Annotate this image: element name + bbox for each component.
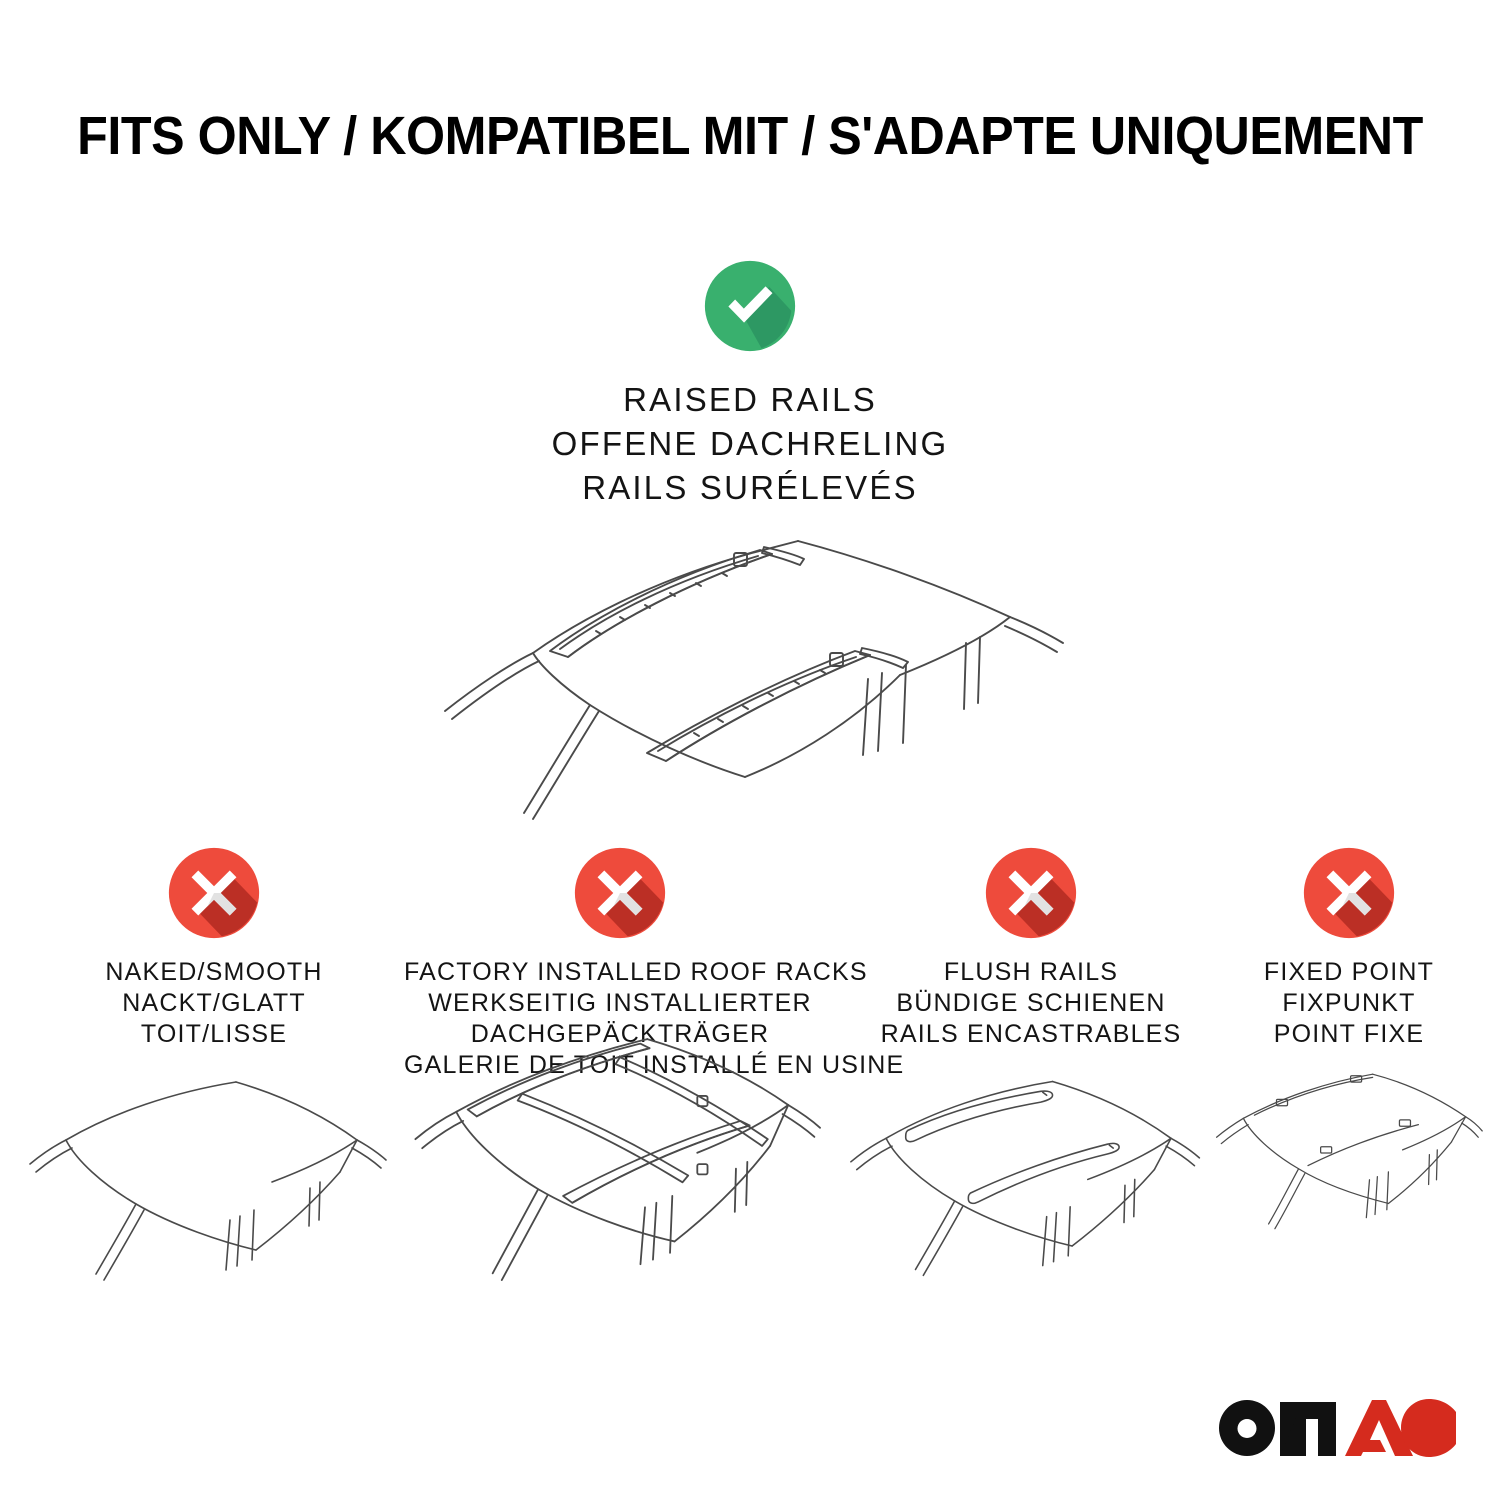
label-line-2: WERKSEITIG INSTALLIERTER <box>404 988 836 1019</box>
compatible-label-line-2: OFFENE DACHRELING <box>0 422 1500 466</box>
compatible-section: RAISED RAILS OFFENE DACHRELING RAILS SUR… <box>0 258 1500 510</box>
label-line-1: FLUSH RAILS <box>845 957 1217 988</box>
cross-circle-icon <box>572 845 668 941</box>
factory-roof-rack-illustration <box>404 1030 836 1303</box>
fixed-point-roof-illustration <box>1215 1060 1483 1241</box>
incompatible-section: NAKED/SMOOTH NACKT/GLATT TOIT/LISSE <box>0 845 1500 1315</box>
incompatible-column-naked-smooth: NAKED/SMOOTH NACKT/GLATT TOIT/LISSE <box>24 845 404 1050</box>
incompatible-column-fixed-point: FIXED POINT FIXPUNKT POINT FIXE <box>1215 845 1483 1050</box>
raised-rails-roof-illustration <box>400 505 1100 835</box>
compatible-label-line-1: RAISED RAILS <box>0 378 1500 422</box>
cross-circle-icon <box>983 845 1079 941</box>
label-line-1: FIXED POINT <box>1215 957 1483 988</box>
label-line-2: BÜNDIGE SCHIENEN <box>845 988 1217 1019</box>
incompatible-column-flush-rails: FLUSH RAILS BÜNDIGE SCHIENEN RAILS ENCAS… <box>845 845 1217 1050</box>
incompatible-label-naked-smooth: NAKED/SMOOTH NACKT/GLATT TOIT/LISSE <box>24 957 404 1050</box>
compatible-label: RAISED RAILS OFFENE DACHRELING RAILS SUR… <box>0 378 1500 510</box>
label-line-3: RAILS ENCASTRABLES <box>845 1019 1217 1050</box>
omac-logo <box>1214 1392 1458 1464</box>
incompatible-column-factory-racks: FACTORY INSTALLED ROOF RACKS WERKSEITIG … <box>404 845 836 1081</box>
label-line-1: FACTORY INSTALLED ROOF RACKS <box>404 957 836 988</box>
label-line-2: NACKT/GLATT <box>24 988 404 1019</box>
label-line-3: POINT FIXE <box>1215 1019 1483 1050</box>
label-line-2: FIXPUNKT <box>1215 988 1483 1019</box>
naked-smooth-roof-illustration <box>24 1060 404 1290</box>
incompatible-label-flush-rails: FLUSH RAILS BÜNDIGE SCHIENEN RAILS ENCAS… <box>845 957 1217 1050</box>
flush-rails-roof-illustration <box>845 1060 1217 1285</box>
page-title: FITS ONLY / KOMPATIBEL MIT / S'ADAPTE UN… <box>53 104 1448 168</box>
incompatible-label-fixed-point: FIXED POINT FIXPUNKT POINT FIXE <box>1215 957 1483 1050</box>
compatible-label-line-3: RAILS SURÉLEVÉS <box>0 466 1500 510</box>
cross-circle-icon <box>166 845 262 941</box>
label-line-3: TOIT/LISSE <box>24 1019 404 1050</box>
check-circle-icon <box>702 258 798 354</box>
cross-circle-icon <box>1301 845 1397 941</box>
label-line-1: NAKED/SMOOTH <box>24 957 404 988</box>
